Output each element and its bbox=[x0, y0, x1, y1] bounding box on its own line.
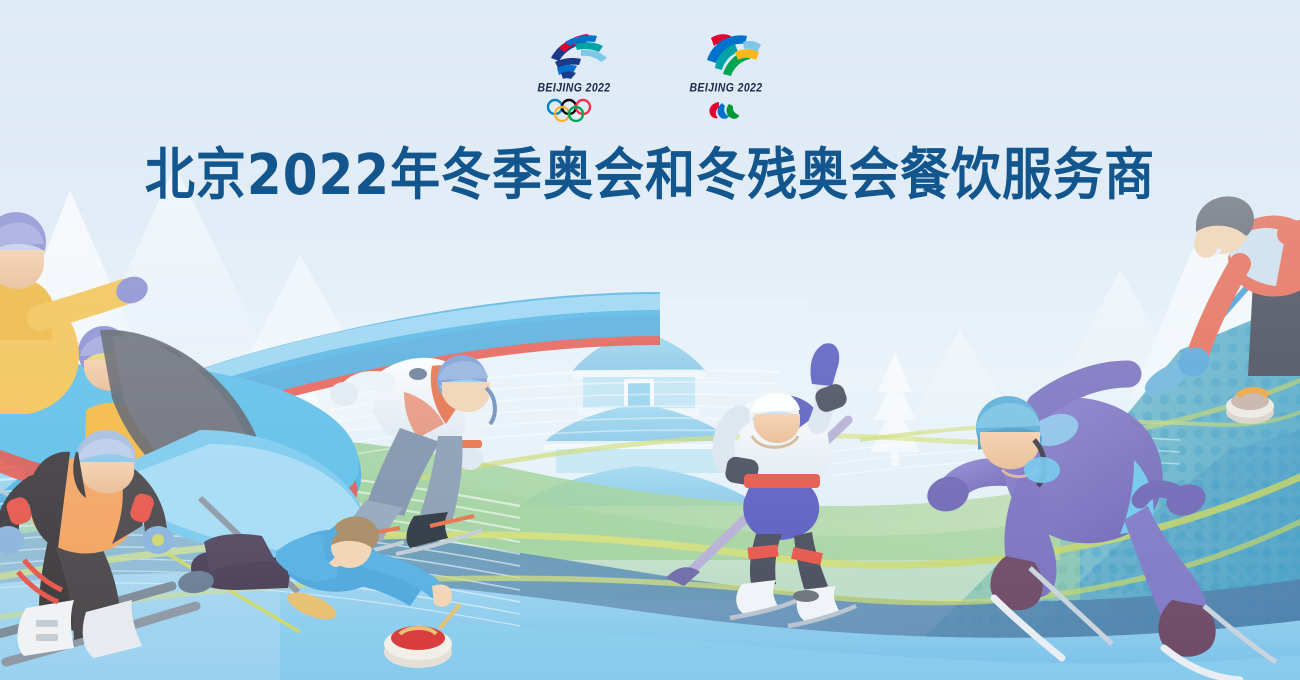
olympic-emblem: BEIJING 2022 bbox=[524, 28, 624, 122]
paralympic-wordmark: BEIJING 2022 bbox=[689, 81, 762, 95]
olympics-catering-banner: BEIJING 2022 BEIJIN bbox=[0, 0, 1300, 680]
paralympic-emblem: BEIJING 2022 bbox=[676, 28, 776, 122]
beijing-2022-paralympic-mark bbox=[687, 28, 765, 80]
page-title: 北京2022年冬季奥会和冬残奥会餐饮服务商 bbox=[0, 146, 1300, 205]
olympic-rings-icon bbox=[543, 98, 605, 122]
paralympic-agitos-icon bbox=[695, 98, 757, 122]
olympic-wordmark: BEIJING 2022 bbox=[537, 81, 610, 95]
emblem-row: BEIJING 2022 BEIJIN bbox=[0, 28, 1300, 120]
beijing-2022-olympic-mark bbox=[535, 28, 613, 80]
